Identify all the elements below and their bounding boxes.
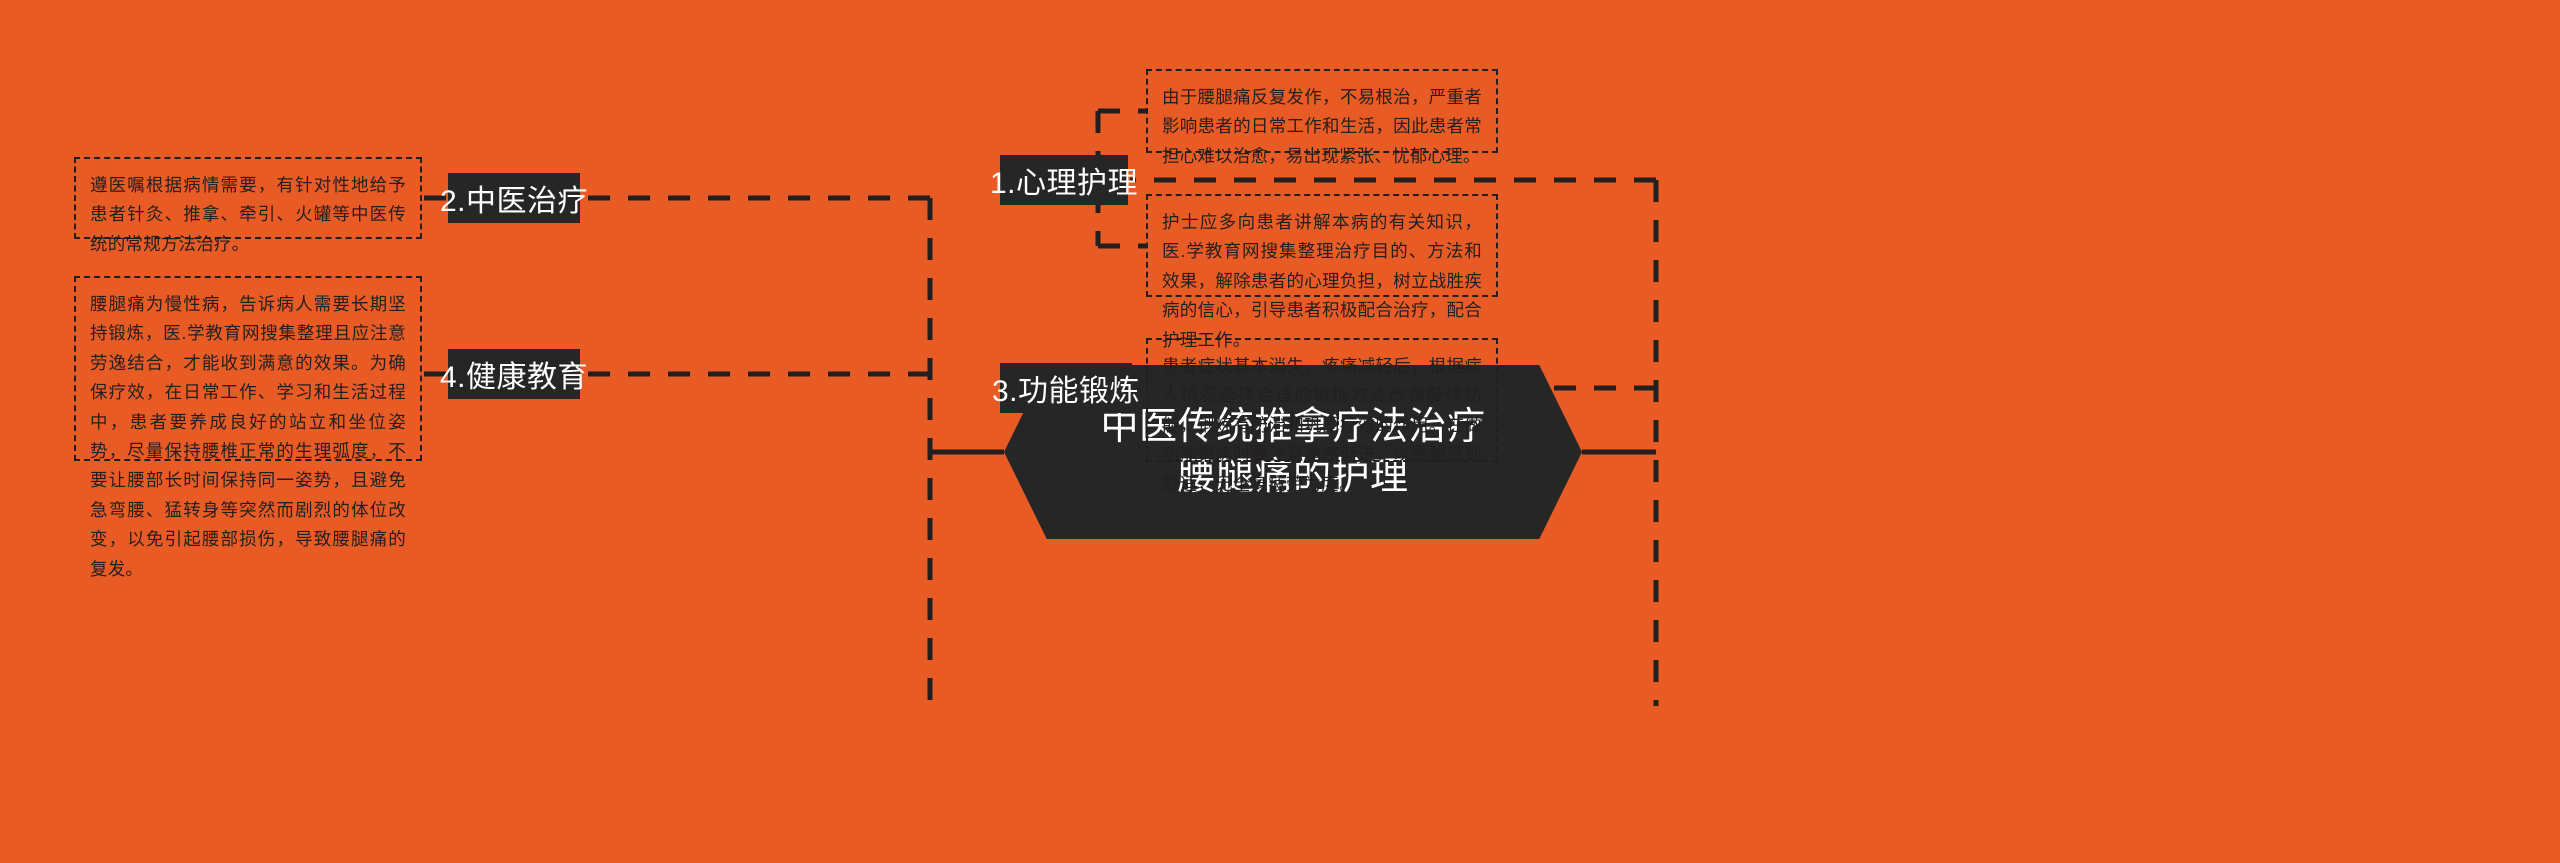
branch-node-1-psychological-care[interactable]: 1.心理护理 (1000, 155, 1128, 205)
branch-node-2-tcm-treatment[interactable]: 2.中医治疗 (448, 173, 580, 223)
branch-node-4-label: 4.健康教育 (440, 352, 588, 396)
detail-box-health-education: 腰腿痛为慢性病，告诉病人需要长期坚持锻炼，医.学教育网搜集整理且应注意劳逸结合，… (74, 276, 422, 461)
branch-node-2-label: 2.中医治疗 (440, 176, 588, 220)
branch-node-4-health-education[interactable]: 4.健康教育 (448, 349, 580, 399)
branch-node-1-label: 1.心理护理 (990, 158, 1138, 202)
detail-box-psychological-care-1: 由于腰腿痛反复发作，不易根治，严重者影响患者的日常工作和生活，因此患者常担心难以… (1146, 69, 1498, 153)
detail-box-functional-exercise: 患者症状基本消失，疼痛减轻后，根据病人情况选择合适的锻炼方法改善肢体功能，锻炼有… (1146, 338, 1498, 462)
detail-box-tcm-treatment: 遵医嘱根据病情需要，有针对性地给予患者针灸、推拿、牵引、火罐等中医传统的常规方法… (74, 157, 422, 239)
mindmap-canvas: 中医传统推拿疗法治疗腰腿痛的护理 2.中医治疗 4.健康教育 1.心理护理 3.… (0, 0, 2560, 863)
branch-node-3-functional-exercise[interactable]: 3.功能锻炼 (1000, 363, 1132, 413)
branch-node-3-label: 3.功能锻炼 (992, 366, 1140, 410)
detail-box-psychological-care-2: 护士应多向患者讲解本病的有关知识，医.学教育网搜集整理治疗目的、方法和效果，解除… (1146, 194, 1498, 297)
